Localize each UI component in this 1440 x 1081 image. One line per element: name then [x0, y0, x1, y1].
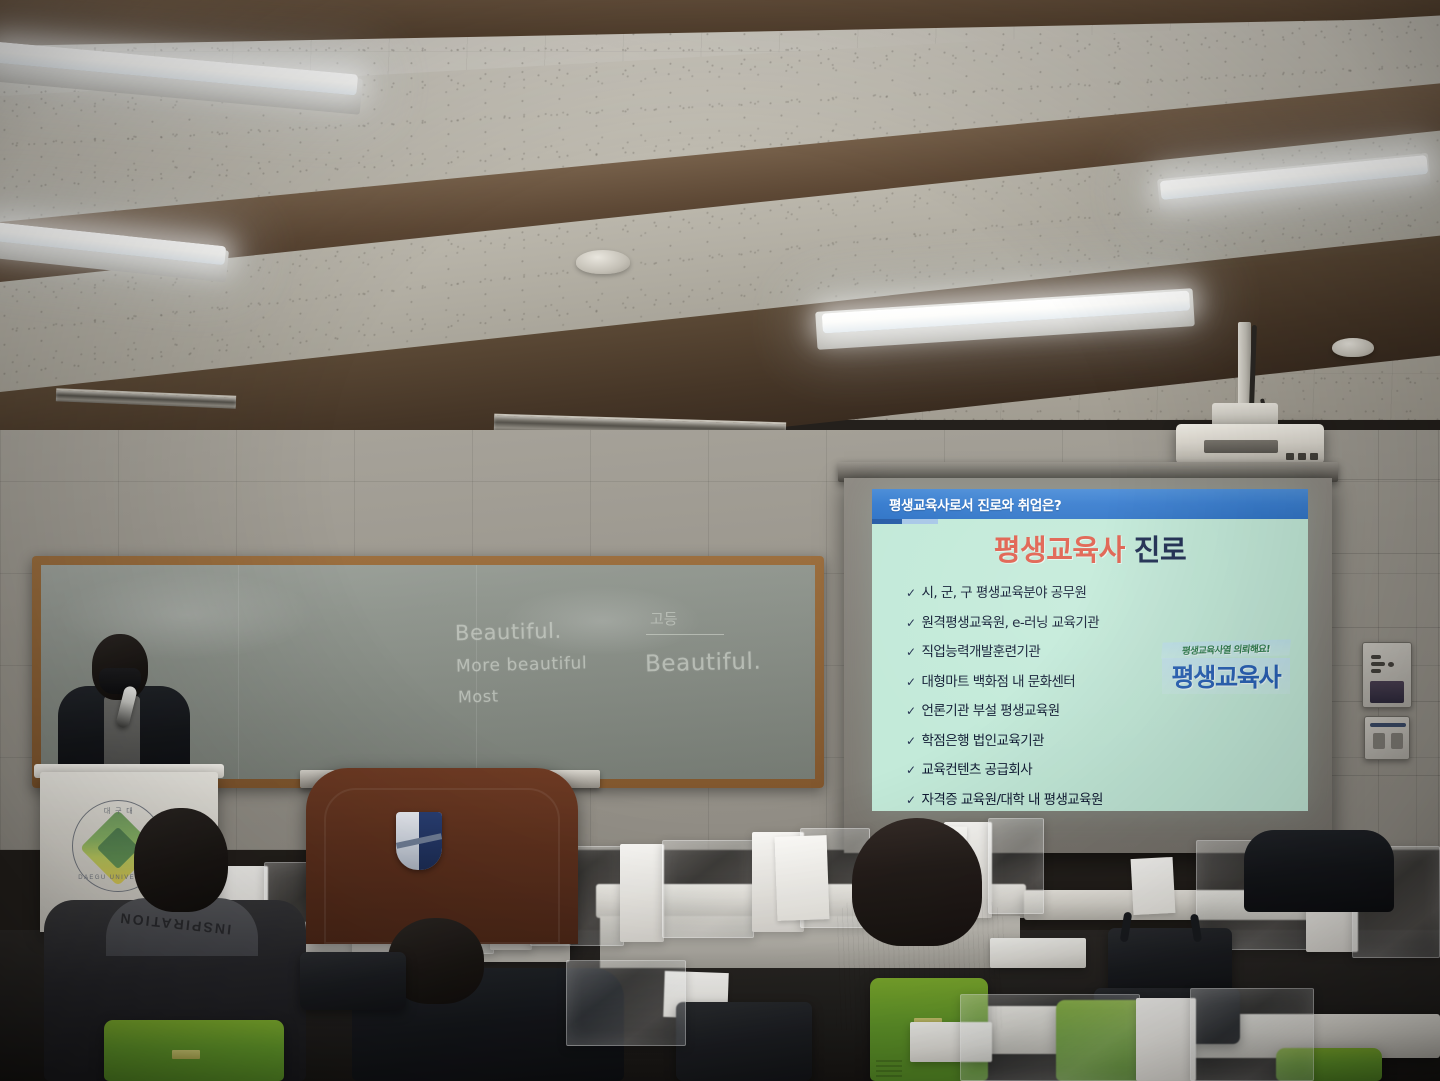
check-icon: ✓	[906, 734, 916, 748]
wall-control-panel[interactable]	[1362, 642, 1412, 708]
bag-dark-3	[300, 952, 406, 1010]
chair-green-2	[104, 1020, 284, 1081]
slide-title-highlight: 평생교육사	[994, 533, 1125, 567]
switch-rocker-1[interactable]	[1373, 733, 1385, 749]
check-icon: ✓	[906, 675, 916, 689]
panel-indicator-2	[1371, 662, 1385, 666]
bullet-item: ✓ 언론기관 부설 평생교육원	[906, 699, 1226, 719]
student-hoodie-head	[134, 808, 228, 912]
whiteboard-seam-1	[238, 565, 239, 779]
slide-header-accent-dark	[872, 519, 902, 524]
slide-header-accent-light	[902, 519, 938, 524]
bullet-item: ✓ 원격평생교육원, e-러닝 교육기관	[906, 611, 1226, 631]
check-icon: ✓	[906, 793, 916, 807]
bullet-item: ✓ 자격증 교육원/대학 내 평생교육원	[906, 788, 1226, 808]
chair-ribs	[876, 1057, 902, 1077]
paper-sheet-1	[775, 835, 830, 921]
lecture-hall-photo: Beautiful. More beautiful Most 고등 Beauti…	[0, 0, 1440, 1081]
slide-title: 평생교육사진로	[872, 527, 1308, 569]
check-icon: ✓	[906, 645, 916, 659]
switch-label-bar	[1370, 723, 1406, 727]
whiteboard-line-1: Beautiful.	[455, 619, 562, 646]
whiteboard-line-3: Most	[458, 687, 499, 707]
presentation-slide: 평생교육사로서 진로와 취업은? 평생교육사진로 ✓ 시, 군, 구 평생교육분…	[872, 489, 1308, 811]
bullet-item: ✓ 시, 군, 구 평생교육분야 공무원	[906, 581, 1226, 601]
white-box-on-desk	[990, 938, 1086, 968]
student-right-body	[1244, 830, 1394, 912]
check-icon: ✓	[906, 704, 916, 718]
student-cream-sweater-hair	[852, 818, 982, 946]
projector-port-1	[1286, 453, 1294, 460]
bullet-text: 시, 군, 구 평생교육분야 공무원	[922, 581, 1087, 601]
slide-title-rest: 진로	[1134, 533, 1186, 567]
check-icon: ✓	[906, 586, 916, 600]
wall-light-switch[interactable]	[1364, 716, 1410, 760]
check-icon: ✓	[906, 763, 916, 777]
right-wall	[1318, 430, 1440, 850]
projector-port-3	[1310, 453, 1318, 460]
acrylic-divider-front-2	[1190, 988, 1314, 1081]
bag-dark-4	[676, 1002, 812, 1081]
whiteboard-line-2: More beautiful	[456, 653, 588, 676]
panel-indicator-3	[1371, 669, 1381, 673]
slide-bullet-list: ✓ 시, 군, 구 평생교육분야 공무원 ✓ 원격평생교육원, e-러닝 교육기…	[906, 581, 1226, 811]
slide-badge-graphic: 평생교육사열 의뢰해요! 평생교육사	[1162, 641, 1290, 694]
chair-label-tag	[172, 1050, 200, 1059]
divider-panel-white-4	[620, 844, 664, 942]
bullet-item: ✓ 학점은행 법인교육기관	[906, 729, 1226, 749]
panel-indicator-1	[1371, 655, 1381, 659]
bullet-item: ✓ 교육컨텐츠 공급회사	[906, 758, 1226, 778]
badge-title: 평생교육사	[1162, 658, 1290, 694]
bullet-text: 언론기관 부설 평생교육원	[922, 699, 1060, 719]
acrylic-divider-6	[988, 818, 1044, 914]
acrylic-divider-front-3	[566, 960, 686, 1046]
panel-indicator-4	[1388, 662, 1394, 667]
bullet-text: 대형마트 백화점 내 문화센터	[922, 670, 1076, 690]
slide-header-text: 평생교육사로서 진로와 취업은?	[889, 494, 1061, 514]
bullet-text: 학점은행 법인교육기관	[922, 729, 1044, 749]
bullet-text: 자격증 교육원/대학 내 평생교육원	[922, 788, 1103, 808]
projector-vent	[1204, 440, 1278, 453]
panel-display	[1370, 681, 1404, 703]
divider-panel-white-front	[1136, 998, 1196, 1081]
university-crest-icon	[396, 812, 442, 870]
slide-header-band: 평생교육사로서 진로와 취업은?	[872, 489, 1308, 519]
bullet-text: 원격평생교육원, e-러닝 교육기관	[922, 611, 1100, 631]
bullet-text: 직업능력개발훈련기관	[922, 640, 1041, 660]
acrylic-divider-front-1	[960, 994, 1140, 1081]
whiteboard-korean-note: 고등	[650, 608, 678, 629]
paper-sheet-3	[1131, 857, 1176, 915]
projector-port-2	[1298, 453, 1306, 460]
check-icon: ✓	[906, 616, 916, 630]
switch-rocker-2[interactable]	[1391, 733, 1403, 749]
bullet-text: 교육컨텐츠 공급회사	[922, 758, 1033, 778]
acrylic-divider-4	[662, 840, 754, 938]
whiteboard-note-underline	[646, 634, 724, 635]
ceiling-projector	[1176, 424, 1324, 464]
emblem-text-top: 대 구 대	[73, 806, 165, 816]
badge-tagline: 평생교육사열 의뢰해요!	[1161, 639, 1291, 658]
whiteboard-right-word: Beautiful.	[645, 649, 762, 678]
ceiling-speaker-icon	[576, 250, 630, 274]
smoke-detector-icon	[1332, 338, 1374, 357]
